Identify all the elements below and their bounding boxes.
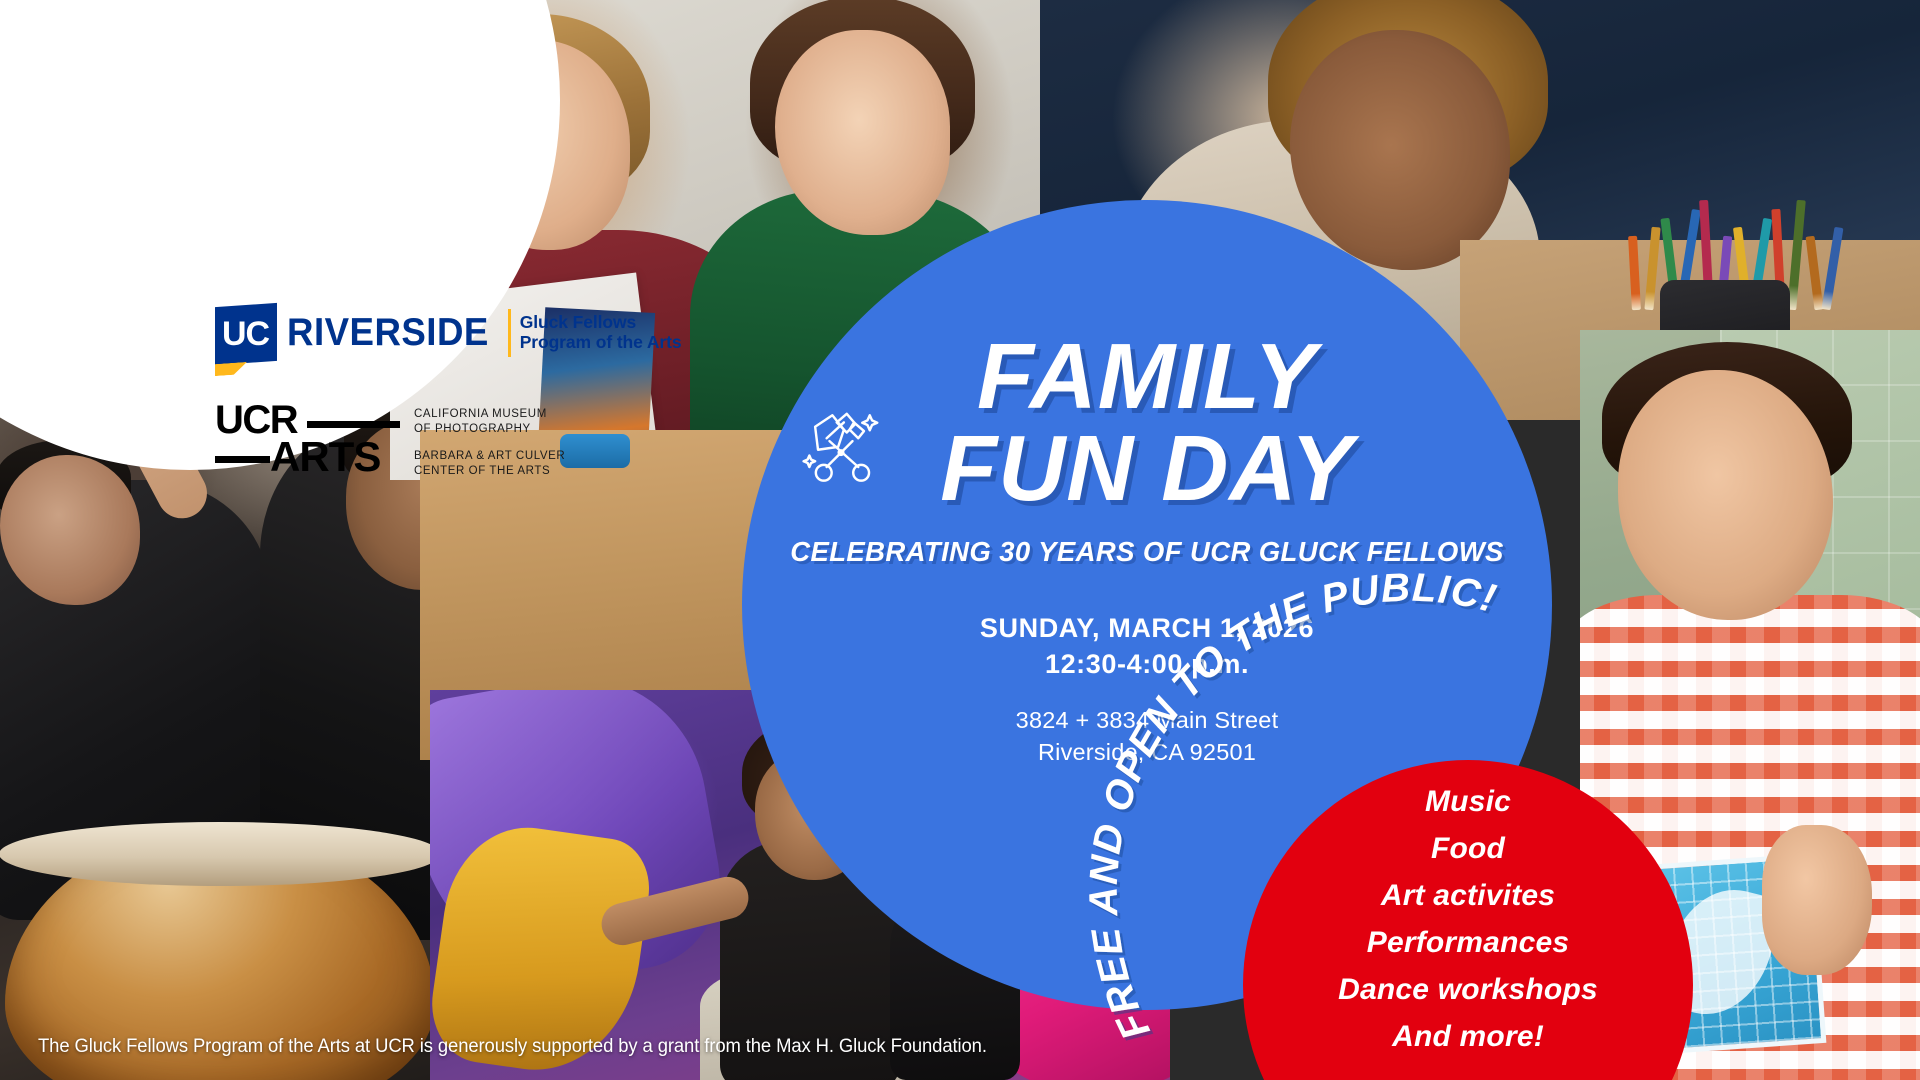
- ucr-arts-bar-top: [307, 421, 400, 428]
- uc-badge-text: UC: [222, 315, 269, 354]
- boy-hand: [1762, 825, 1872, 975]
- colored-pencil: [1806, 236, 1824, 311]
- gold-divider-rule: [508, 309, 511, 357]
- gluck-line-2: Program of the Arts: [520, 332, 682, 352]
- colored-pencil: [1822, 227, 1844, 310]
- ucr-arts-subtitle-group: CALIFORNIA MUSEUM OF PHOTOGRAPHY BARBARA…: [414, 403, 565, 479]
- uc-shield-icon: UC: [215, 303, 277, 365]
- footer-credit: The Gluck Fellows Program of the Arts at…: [38, 1036, 987, 1058]
- colored-pencil: [1628, 236, 1641, 310]
- riverside-wordmark: RIVERSIDE: [287, 305, 489, 361]
- gluck-line-1: Gluck Fellows: [520, 312, 682, 332]
- arts-sub-line-3: BARBARA & ART CULVER: [414, 449, 565, 464]
- gluck-program-name: Gluck Fellows Program of the Arts: [520, 305, 682, 352]
- scissors-glue-icon: [795, 398, 887, 490]
- poster-canvas: UC RIVERSIDE Gluck Fellows Program of th…: [0, 0, 1920, 1080]
- free-and-open-banner: FREE AND OPEN TO THE PUBLIC!: [1140, 655, 1760, 1075]
- uc-riverside-gluck-lockup: UC RIVERSIDE Gluck Fellows Program of th…: [215, 305, 635, 363]
- arts-sub-spacer: [414, 437, 565, 449]
- arts-sub-line-1: CALIFORNIA MUSEUM: [414, 407, 565, 422]
- ucr-arts-bar-bottom: [215, 456, 270, 463]
- ucr-arts-lockup: UCR ARTS CALIFORNIA MUSEUM OF PHOTOGRAPH…: [215, 403, 635, 481]
- arts-sub-line-2: OF PHOTOGRAPHY: [414, 422, 565, 437]
- brand-logo-block: UC RIVERSIDE Gluck Fellows Program of th…: [215, 305, 635, 481]
- colored-pencil: [1644, 227, 1660, 310]
- arts-sub-line-4: CENTER OF THE ARTS: [414, 464, 565, 479]
- taiko-drum-rim: [0, 822, 441, 886]
- colored-pencil: [1787, 200, 1806, 310]
- ucr-arts-wordmark: UCR ARTS: [215, 403, 400, 481]
- ucr-arts-arts-text: ARTS: [270, 436, 380, 478]
